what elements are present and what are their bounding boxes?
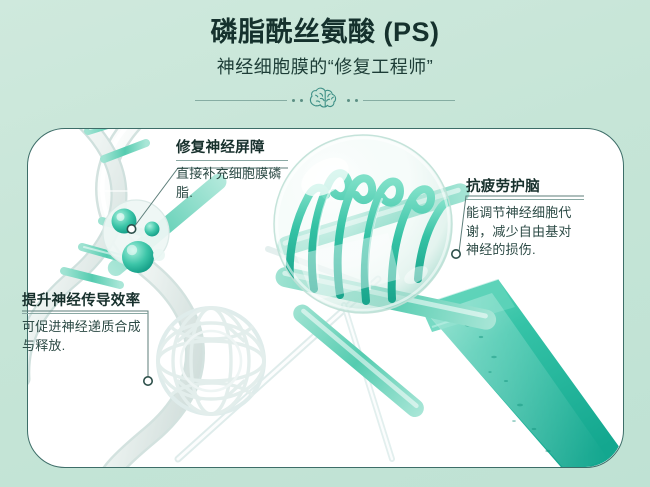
callout-anti-fatigue-heading: 抗疲劳护脑 [466,178,584,196]
callout-boost-body: 可促进神经递质合成与释放. [22,318,148,355]
callout-repair-rule [176,160,288,161]
callout-repair-heading: 修复神经屏障 [176,139,288,157]
divider-dot-right-outer [355,99,358,102]
wireframe-sphere [158,308,264,414]
callout-anti-fatigue: 抗疲劳护脑 能调节神经细胞代谢，减少自由基对神经的损伤. [466,178,584,259]
header-divider [0,86,650,115]
page-subtitle: 神经细胞膜的“修复工程师” [0,48,650,79]
divider-dot-left-inner [300,99,303,102]
divider-rule-right [363,100,455,101]
callout-repair-nerve-barrier: 修复神经屏障 直接补充细胞膜磷脂. [176,139,288,202]
callout-anti-fatigue-body: 能调节神经细胞代谢，减少自由基对神经的损伤. [466,204,584,259]
brain-icon [308,86,342,115]
glass-sphere-phospholipid [274,135,455,313]
callout-boost-heading: 提升神经传导效率 [22,292,148,310]
callout-anti-fatigue-rule [466,199,584,200]
callout-boost-conduction: 提升神经传导效率 可促进神经递质合成与释放. [22,292,148,355]
divider-rule-left [195,100,287,101]
page-title: 磷脂酰丝氨酸 (PS) [0,0,650,48]
divider-dot-left-outer [292,99,295,102]
callout-repair-body: 直接补充细胞膜磷脂. [176,165,288,202]
divider-dot-right-inner [347,99,350,102]
poster-header: 磷脂酰丝氨酸 (PS) 神经细胞膜的“修复工程师” [0,0,650,115]
callout-boost-rule [22,313,148,314]
poster-root: 磷脂酰丝氨酸 (PS) 神经细胞膜的“修复工程师” [0,0,650,487]
